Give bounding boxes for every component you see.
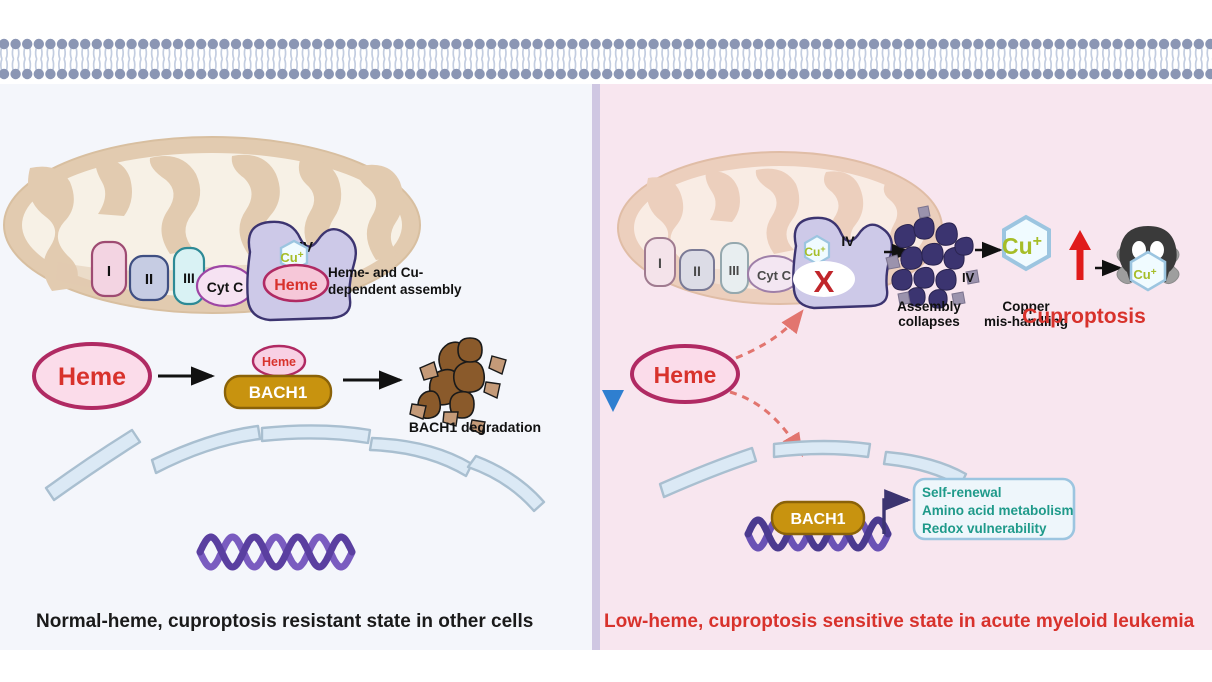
left-heme-pool: Heme	[34, 344, 150, 408]
skull-copper-hexagon: Cu+	[1131, 252, 1165, 290]
left-copper-charge: +	[298, 250, 304, 261]
right-bach1: BACH1	[772, 502, 864, 534]
copper-badge-label: Cu	[1002, 233, 1033, 259]
right-etc-complex-i: I	[645, 238, 675, 286]
assembly-collapse-line2: collapses	[898, 314, 960, 329]
right-heme-pool-label: Heme	[654, 362, 717, 388]
right-bach1-label: BACH1	[790, 511, 845, 528]
left-heme-pool-label: Heme	[58, 363, 126, 391]
program-item-self-renewal: Self-renewal	[922, 485, 1002, 500]
skull-and-crossbones-icon: Cu+	[1117, 226, 1179, 290]
plasma-membrane-bilayer	[0, 38, 1212, 80]
right-etc-complex-iii: III	[721, 243, 748, 293]
left-copper-label: Cu	[280, 250, 297, 265]
left-panel-caption: Normal-heme, cuproptosis resistant state…	[36, 611, 533, 632]
bach1-program-box: Self-renewal Amino acid metabolism Redox…	[914, 479, 1074, 539]
collapse-complex-iv-label: IV	[962, 270, 975, 285]
right-copper-charge: +	[820, 244, 825, 254]
cuproptosis-label: Cuproptosis	[1022, 305, 1146, 328]
program-item-amino-acid-metabolism: Amino acid metabolism	[922, 503, 1074, 518]
right-panel-caption: Low-heme, cuproptosis sensitive state in…	[604, 611, 1195, 632]
right-etc-complex-ii: II	[680, 250, 714, 290]
panel-divider	[592, 84, 600, 650]
assembly-annotation-line1: Heme- and Cu-	[328, 265, 423, 280]
etc-cyt-c-label: Cyt C	[207, 279, 244, 295]
right-etc-cyt-c-label: Cyt C	[757, 268, 792, 283]
right-copper-label: Cu	[804, 245, 820, 259]
assembly-failure-x-label: X	[814, 264, 835, 299]
program-item-redox-vulnerability: Redox vulnerability	[922, 521, 1047, 536]
right-etc-complex-iv-label: IV	[841, 233, 855, 249]
left-mito-heme: Heme	[264, 265, 328, 301]
left-mito-heme-label: Heme	[274, 277, 318, 294]
right-etc-complex-i-label: I	[658, 255, 662, 271]
etc-complex-ii-label: II	[145, 271, 153, 288]
assembly-annotation-line2: dependent assembly	[328, 282, 462, 297]
right-heme-pool: Heme	[632, 346, 738, 402]
etc-complex-i-label: I	[107, 263, 111, 280]
figure-canvas: I II III Cyt C IV	[0, 0, 1212, 682]
etc-complex-ii: II	[130, 256, 168, 300]
copper-badge-charge: +	[1033, 233, 1042, 250]
right-etc-complex-iii-label: III	[729, 263, 740, 278]
skull-copper-label: Cu	[1133, 267, 1150, 282]
bach1-degradation-label: BACH1 degradation	[409, 419, 541, 435]
etc-cyt-c: Cyt C	[197, 266, 253, 306]
right-copper-hexagon: Cu+	[804, 236, 829, 264]
etc-complex-i: I	[92, 242, 126, 296]
skull-copper-charge: +	[1151, 267, 1157, 278]
etc-complex-iii-label: III	[183, 270, 195, 286]
left-bound-heme-label: Heme	[262, 355, 296, 369]
right-etc-complex-ii-label: II	[693, 263, 701, 279]
left-bach1-label: BACH1	[249, 383, 308, 402]
assembly-collapse-line1: Assembly	[897, 299, 961, 314]
